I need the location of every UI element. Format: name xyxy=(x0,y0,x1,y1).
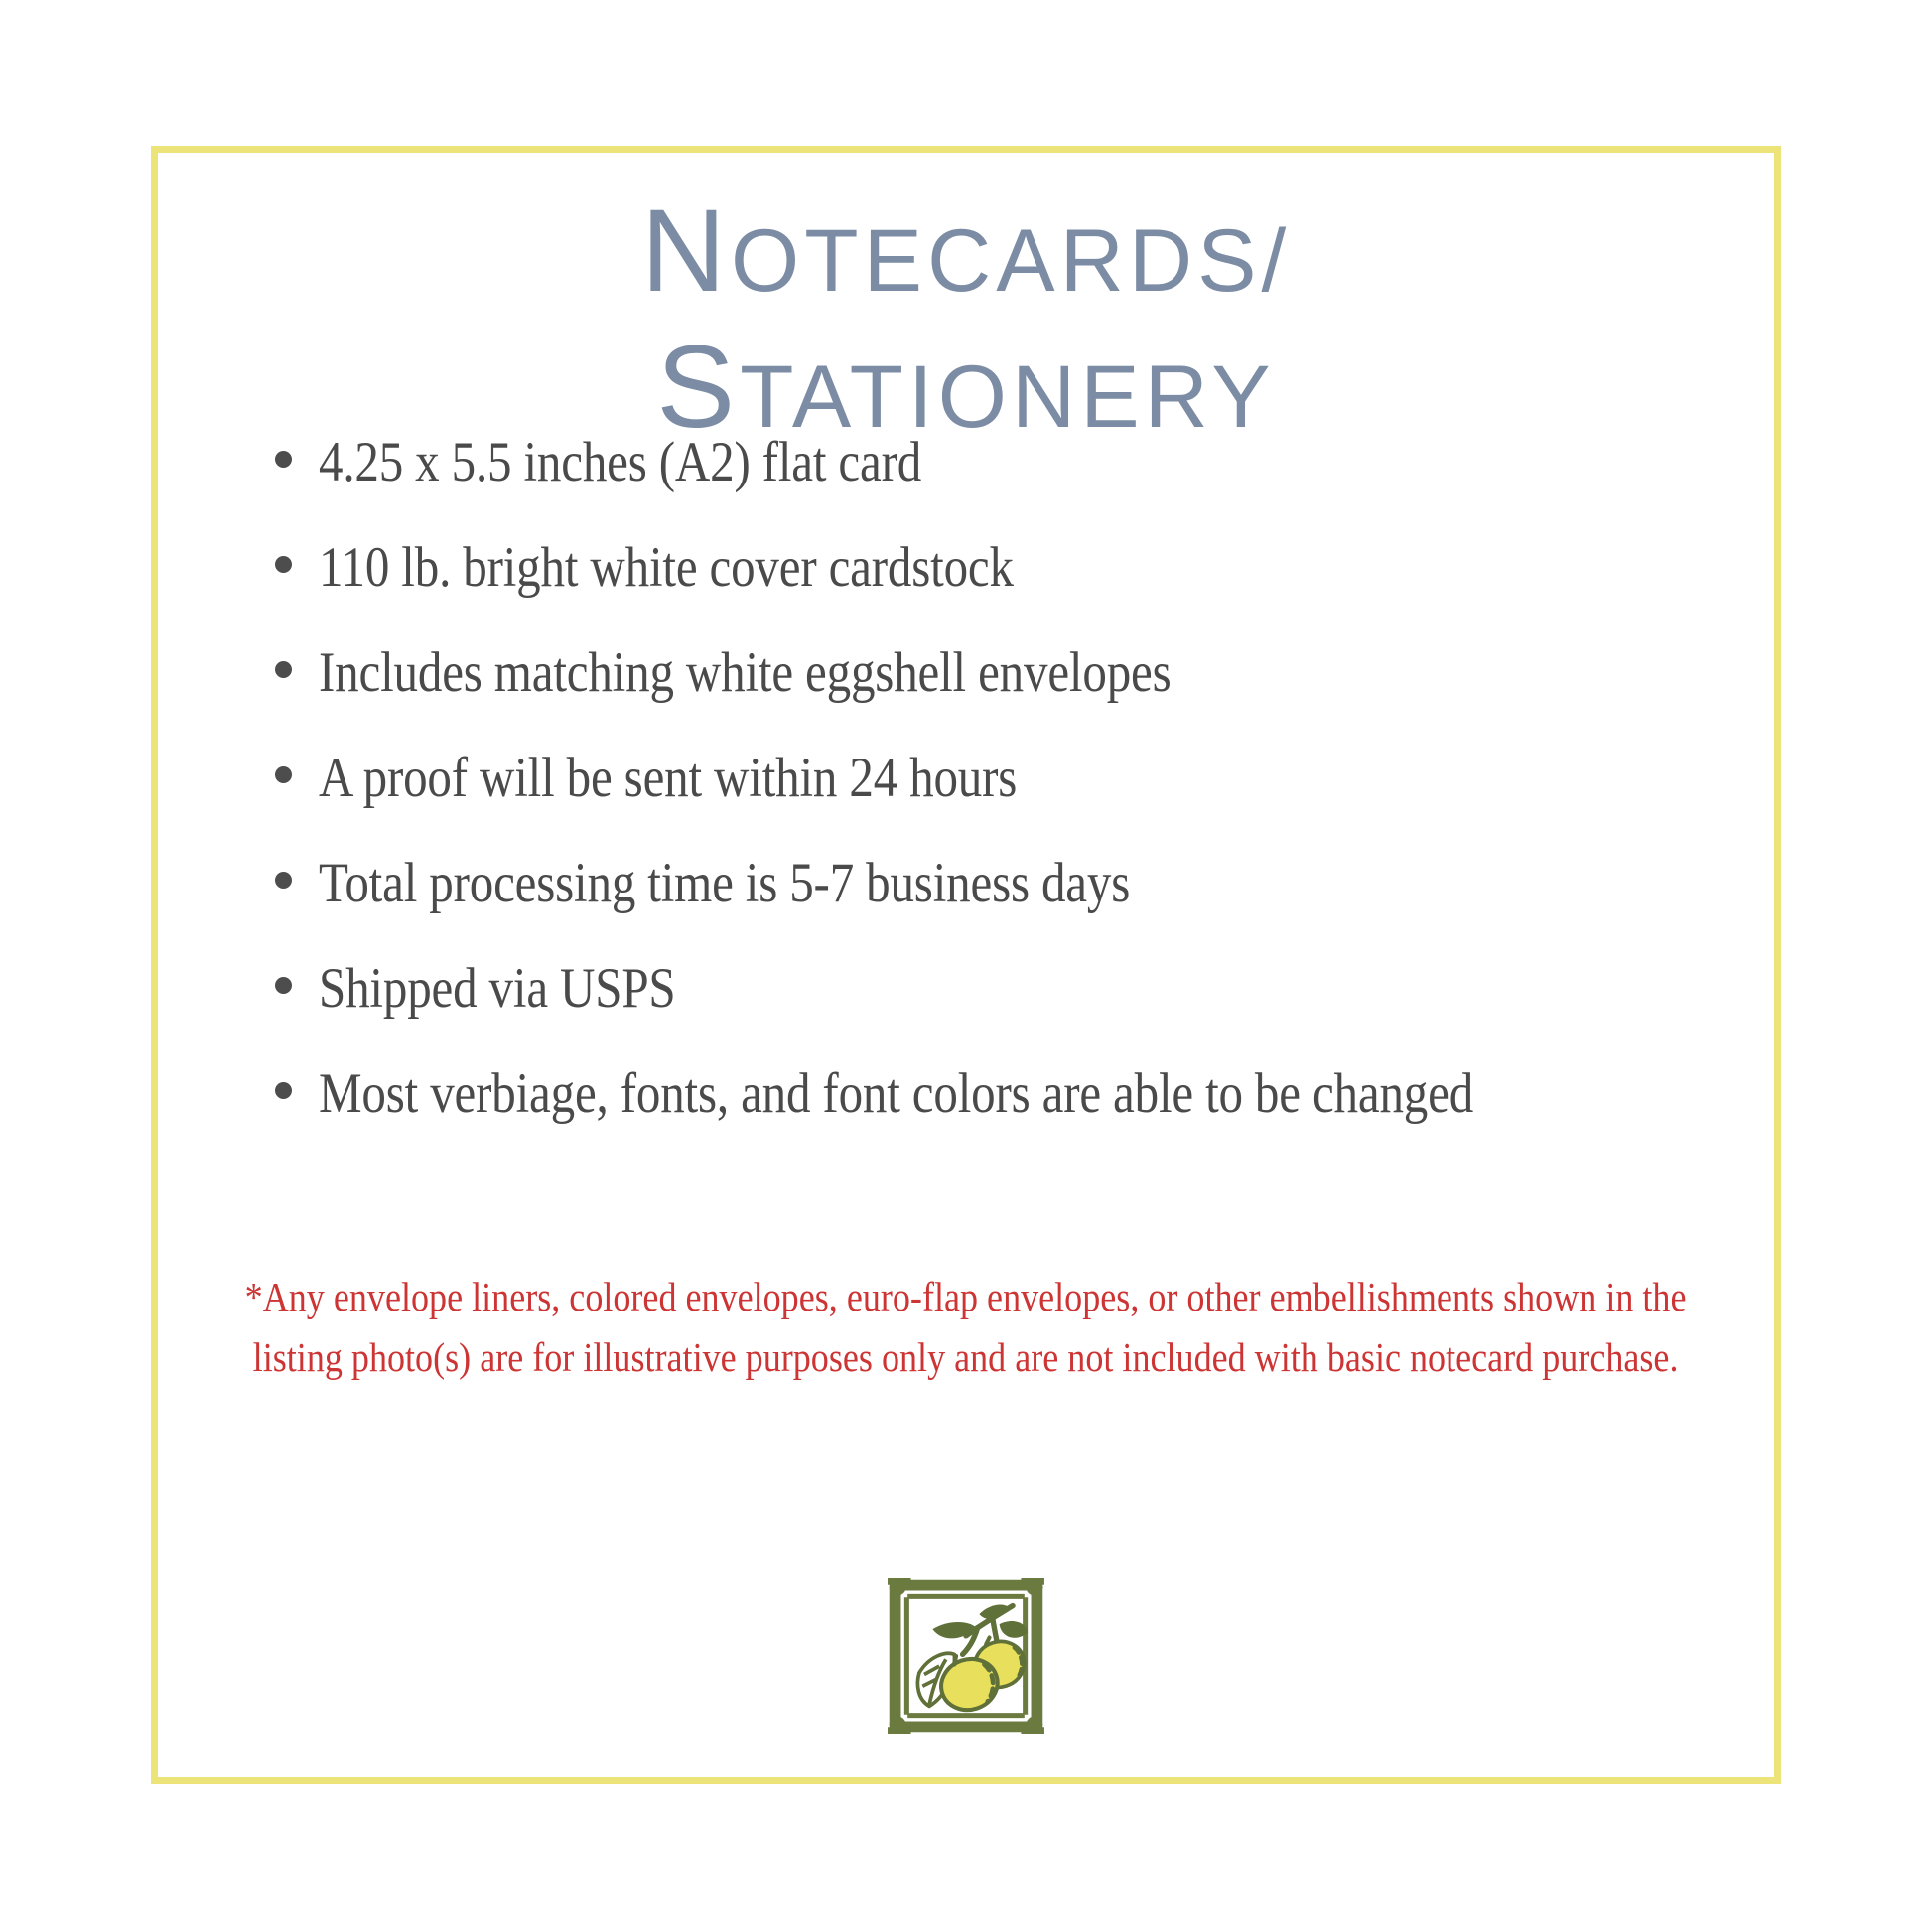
disclaimer-note: *Any envelope liners, colored envelopes,… xyxy=(206,1267,1726,1388)
list-item-label: Shipped via USPS xyxy=(319,947,1493,1031)
list-item: Total processing time is 5-7 business da… xyxy=(275,842,1685,925)
disclaimer-text: *Any envelope liners, colored envelopes,… xyxy=(209,1267,1722,1388)
title-line-1-rest: otecards/ xyxy=(731,210,1291,310)
product-info-card-page: Notecards/ Stationery 4.25 x 5.5 inches … xyxy=(0,0,1932,1932)
lemon-branch-icon xyxy=(883,1573,1049,1739)
list-item: Most verbiage, fonts, and font colors ar… xyxy=(275,1052,1685,1136)
list-item-label: 110 lb. bright white cover cardstock xyxy=(319,526,1493,610)
bullet-dot-icon xyxy=(275,977,319,994)
list-item-label: A proof will be sent within 24 hours xyxy=(319,737,1493,820)
list-item: Includes matching white eggshell envelop… xyxy=(275,631,1685,715)
bullet-dot-icon xyxy=(275,872,319,889)
list-item: A proof will be sent within 24 hours xyxy=(275,737,1685,820)
bullet-dot-icon xyxy=(275,556,319,573)
card-frame: Notecards/ Stationery 4.25 x 5.5 inches … xyxy=(151,146,1781,1784)
list-item-label: Most verbiage, fonts, and font colors ar… xyxy=(319,1052,1493,1136)
brand-logo xyxy=(158,1573,1774,1739)
list-item: Shipped via USPS xyxy=(275,947,1685,1031)
bullet-dot-icon xyxy=(275,766,319,783)
title-line-1-lead: N xyxy=(641,186,731,317)
bullet-dot-icon xyxy=(275,661,319,678)
list-item: 4.25 x 5.5 inches (A2) flat card xyxy=(275,421,1685,504)
bullet-dot-icon xyxy=(275,451,319,468)
bullet-dot-icon xyxy=(275,1082,319,1099)
list-item-label: Includes matching white eggshell envelop… xyxy=(319,631,1493,715)
card-inner: Notecards/ Stationery 4.25 x 5.5 inches … xyxy=(158,153,1774,1777)
list-item-label: Total processing time is 5-7 business da… xyxy=(319,842,1493,925)
list-item-label: 4.25 x 5.5 inches (A2) flat card xyxy=(319,421,1493,504)
feature-bullet-list: 4.25 x 5.5 inches (A2) flat card 110 lb.… xyxy=(275,421,1685,1158)
page-title: Notecards/ Stationery xyxy=(158,188,1774,460)
title-line-1: Notecards/ xyxy=(158,188,1774,324)
list-item: 110 lb. bright white cover cardstock xyxy=(275,526,1685,610)
